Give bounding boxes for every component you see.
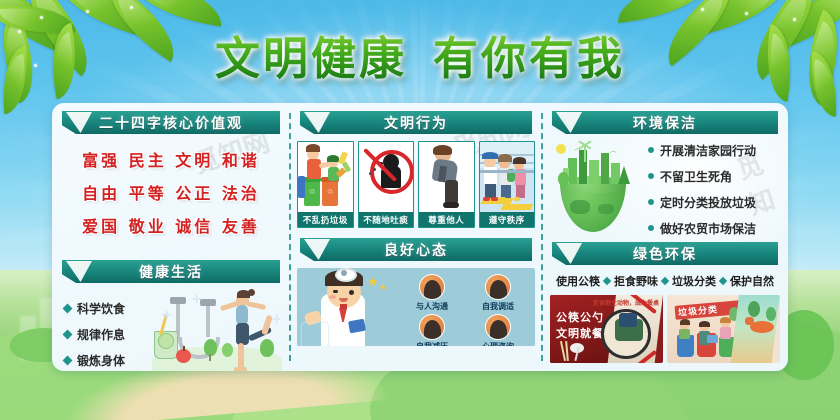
title-part-1: 文明健康 [215, 22, 407, 87]
public-chopsticks-photo[interactable]: 公筷公勺 文明就餐 拒食野生动物，成为餐桌 [550, 295, 663, 363]
green-environment-photos: 公筷公勺 文明就餐 拒食野生动物，成为餐桌 [550, 295, 780, 363]
list-item-label: 开展清洁家园行动 [660, 142, 756, 159]
self-adjust-icon [485, 274, 511, 300]
green-environment-items: 使用公筷 拒食野味 垃圾分类 保护自然 [546, 273, 784, 289]
card-caption: 不乱扔垃圾 [298, 212, 353, 227]
core-values-row: 自由 平等 公正 法治 [52, 180, 290, 204]
yoga-fitness-illustration: ✛ ✛ ✛ [152, 287, 282, 371]
content-board: 觅知网 觅知网 觅知 二十四字核心价值观 富强 民主 文明 和谐 自由 平等 公… [52, 103, 788, 371]
dot-bullet-icon [648, 199, 654, 205]
list-item-label: 做好农贸市场保洁 [660, 220, 756, 237]
diamond-separator-icon [603, 277, 611, 285]
green-item-label: 保护自然 [730, 273, 774, 289]
diamond-separator-icon [719, 277, 727, 285]
section-title: 绿色环保 [633, 244, 697, 264]
card-caption: 遵守秩序 [480, 212, 535, 227]
core-values-list: 富强 民主 文明 和谐 自由 平等 公正 法治 爱国 敬业 诚信 友善 [52, 147, 290, 237]
section-title: 健康生活 [139, 262, 203, 282]
section-title: 良好心态 [384, 240, 448, 260]
list-item-label: 锻炼身体 [77, 352, 125, 369]
mindset-icon[interactable]: 心理咨询 [467, 314, 529, 346]
good-mindset-block: ★ ★ 与人沟通 自我调适 自我减压 心理咨询 [297, 268, 535, 346]
green-item-label: 垃圾分类 [672, 273, 716, 289]
poster-canvas: 文明健康有你有我 觅知网 觅知网 觅知 二十四字核心价值观 富强 民主 文明 和… [0, 0, 840, 420]
section-title: 二十四字核心价值观 [99, 113, 243, 133]
section-header-green-environment: 绿色环保 [552, 242, 778, 265]
dot-bullet-icon [648, 147, 654, 153]
behaviour-card[interactable]: 遵守秩序 [479, 141, 536, 228]
section-title: 文明行为 [384, 113, 448, 133]
mindset-icon[interactable]: 自我调适 [467, 274, 529, 312]
green-earth-illustration: ෴ ෴ [548, 142, 644, 236]
section-header-good-mindset: 良好心态 [300, 238, 532, 261]
list-item: 科学饮食 [64, 300, 160, 317]
communication-icon [419, 274, 445, 300]
behaviour-card[interactable]: 尊重他人 [418, 141, 475, 228]
section-header-civilized-behaviour: 文明行为 [300, 111, 532, 134]
no-littering-illustration: ♲ ♲ [298, 142, 353, 212]
behaviour-card-grid: ♲ ♲ [297, 141, 535, 228]
counseling-icon [485, 314, 511, 340]
card-caption: 尊重他人 [419, 212, 474, 227]
diamond-bullet-icon [63, 356, 73, 366]
list-item: 锻炼身体 [64, 352, 160, 369]
core-values-row: 爱国 敬业 诚信 友善 [52, 213, 290, 237]
green-item-label: 拒食野味 [614, 273, 658, 289]
respect-others-illustration [419, 142, 474, 212]
dot-bullet-icon [648, 225, 654, 231]
column-civilized-behaviour: 文明行为 ♲ ♲ [290, 103, 542, 371]
photo-line-1: 公筷公勺 [556, 309, 604, 325]
list-item-label: 规律作息 [77, 326, 125, 343]
core-values-row: 富强 民主 文明 和谐 [52, 147, 290, 171]
list-item-label: 科学饮食 [77, 300, 125, 317]
behaviour-card[interactable]: ♲ ♲ [297, 141, 354, 228]
section-title: 环境保洁 [633, 113, 697, 133]
mindset-icon-label: 心理咨询 [467, 341, 529, 346]
mindset-icon-label: 自我减压 [401, 341, 463, 346]
diamond-separator-icon [661, 277, 669, 285]
list-item-label: 定时分类投放垃圾 [660, 194, 756, 211]
column-environment: 环境保洁 [542, 103, 788, 371]
poster-title: 文明健康有你有我 [0, 22, 840, 87]
garbage-sorting-photo[interactable]: 垃圾分类 [667, 295, 780, 363]
healthy-life-block: 科学饮食 规律作息 锻炼身体 书香社会 [60, 287, 282, 371]
diamond-bullet-icon [63, 330, 73, 340]
photo-line-2: 文明就餐 [556, 325, 604, 341]
list-item: 定时分类投放垃圾 [648, 194, 780, 211]
green-item-label: 使用公筷 [556, 273, 600, 289]
mindset-icon[interactable]: 与人沟通 [401, 274, 463, 312]
list-item-label: 不留卫生死角 [660, 168, 732, 185]
card-caption: 不随地吐痰 [359, 212, 414, 227]
list-item: 做好农贸市场保洁 [648, 220, 780, 237]
list-item: 规律作息 [64, 326, 160, 343]
environment-cleaning-list: 开展清洁家园行动 不留卫生死角 定时分类投放垃圾 做好农贸市场保洁 [644, 133, 780, 246]
list-item: 开展清洁家园行动 [648, 142, 780, 159]
no-spitting-illustration [359, 142, 414, 212]
column-core-values: 二十四字核心价值观 富强 民主 文明 和谐 自由 平等 公正 法治 爱国 敬业 … [52, 103, 290, 371]
title-part-2: 有你有我 [433, 22, 625, 87]
list-item: 不留卫生死角 [648, 168, 780, 185]
section-header-environment-cleaning: 环境保洁 [552, 111, 778, 134]
mindset-icon[interactable]: 自我减压 [401, 314, 463, 346]
diamond-bullet-icon [63, 304, 73, 314]
mindset-icon-grid: 与人沟通 自我调适 自我减压 心理咨询 [401, 274, 529, 346]
stress-relief-icon [419, 314, 445, 340]
section-header-healthy-life: 健康生活 [62, 260, 280, 283]
mindset-icon-label: 与人沟通 [401, 301, 463, 312]
mindset-icon-label: 自我调适 [467, 301, 529, 312]
healthy-life-list: 科学饮食 规律作息 锻炼身体 书香社会 [64, 291, 160, 371]
dot-bullet-icon [648, 173, 654, 179]
section-header-core-values: 二十四字核心价值观 [62, 111, 280, 134]
behaviour-card[interactable]: 不随地吐痰 [358, 141, 415, 228]
follow-order-illustration [480, 142, 535, 212]
